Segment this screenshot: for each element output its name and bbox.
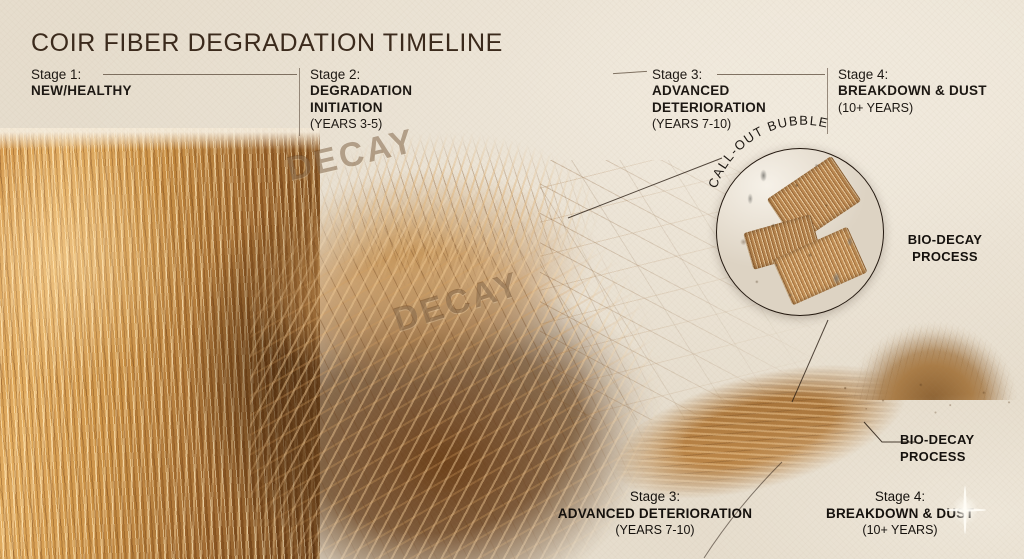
- stage-2-name-line2: INITIATION: [310, 100, 412, 116]
- stage-4-label: Stage 4: BREAKDOWN & DUST (10+ YEARS): [838, 66, 987, 116]
- stage-2-number: Stage 2:: [310, 66, 412, 83]
- biodecay-bottom-line1: BIO-DECAY: [900, 432, 1020, 449]
- stage-1-number: Stage 1:: [31, 66, 132, 83]
- leader-line-into-stage3: [613, 71, 647, 74]
- infographic-canvas: COIR FIBER DEGRADATION TIMELINE Stage 1:…: [0, 0, 1024, 559]
- page-title: COIR FIBER DEGRADATION TIMELINE: [31, 29, 503, 58]
- biodecay-top-line1: BIO-DECAY: [880, 232, 1010, 249]
- coir-fiber-bundle-stage1-image: [0, 128, 320, 559]
- divider-tick-stage2: [299, 68, 300, 136]
- stage-2-name-line1: DEGRADATION: [310, 83, 412, 99]
- biodecay-annotation-bottom: BIO-DECAY PROCESS: [900, 432, 1020, 465]
- callout-arc-label-text: CALL-OUT BUBBLE: [705, 113, 830, 190]
- callout-arc-label: CALL-OUT BUBBLE: [700, 112, 900, 202]
- stage-4-name: BREAKDOWN & DUST: [838, 83, 987, 99]
- stage-3-bottom-name: ADVANCED DETERIORATION: [540, 506, 770, 523]
- sparkle-highlight: [944, 486, 986, 534]
- stage-3-bottom-years: (YEARS 7-10): [540, 522, 770, 538]
- stage-3-number: Stage 3:: [652, 66, 766, 83]
- biodecay-bottom-line2: PROCESS: [900, 449, 1020, 466]
- stage-3-bottom-label: Stage 3: ADVANCED DETERIORATION (YEARS 7…: [540, 488, 770, 539]
- stage-2-years: (YEARS 3-5): [310, 116, 412, 132]
- stage-4-number: Stage 4:: [838, 66, 987, 83]
- stage-3-bottom-number: Stage 3:: [540, 488, 770, 506]
- connector-line-stage1-stage2: [103, 74, 297, 75]
- stage-1-label: Stage 1: NEW/HEALTHY: [31, 66, 132, 100]
- biodecay-annotation-top: BIO-DECAY PROCESS: [880, 232, 1010, 265]
- stage-2-label: Stage 2: DEGRADATION INITIATION (YEARS 3…: [310, 66, 412, 132]
- stage-3-name-line1: ADVANCED: [652, 83, 766, 99]
- biodecay-top-line2: PROCESS: [880, 249, 1010, 266]
- stage-1-name: NEW/HEALTHY: [31, 83, 132, 99]
- decay-watermark-2: DECAY: [389, 265, 526, 341]
